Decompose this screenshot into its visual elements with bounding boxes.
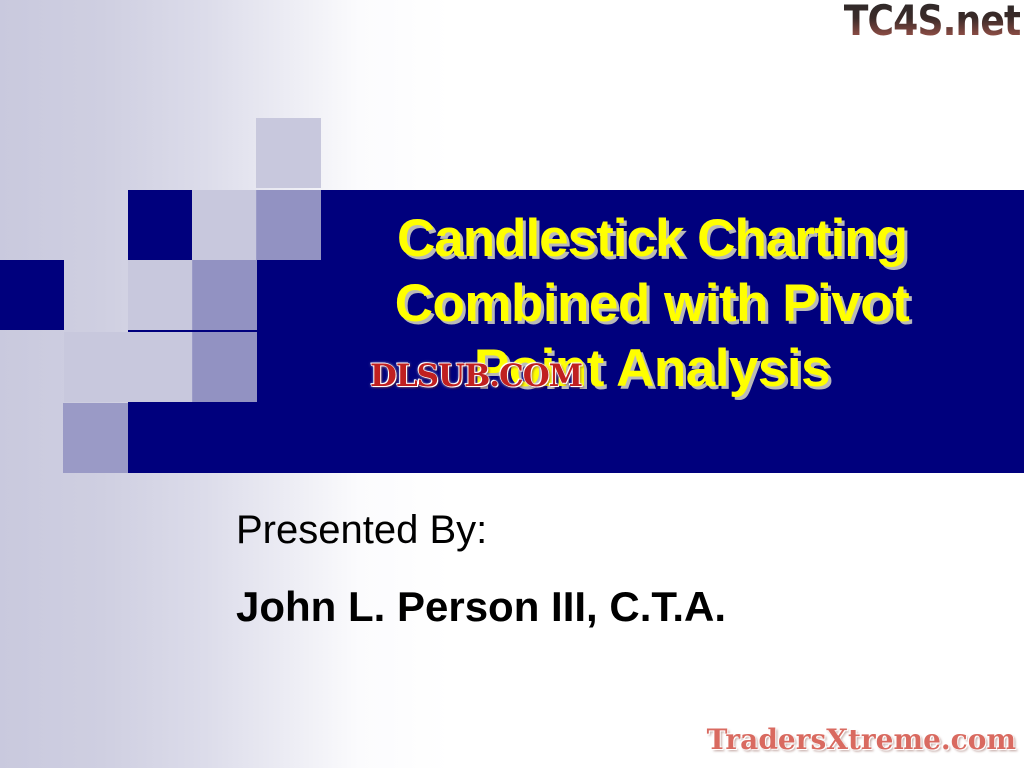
slide-subtitle: Presented By: John L. Person III, C.T.A. bbox=[236, 506, 976, 632]
decorative-square bbox=[128, 260, 193, 330]
title-line-1: Candlestick Charting bbox=[322, 206, 982, 271]
presented-by-label: Presented By: bbox=[236, 506, 976, 554]
decorative-square bbox=[63, 403, 128, 473]
title-line-2: Combined with Pivot bbox=[322, 271, 982, 336]
decorative-square bbox=[192, 190, 257, 260]
decorative-square-navy bbox=[0, 260, 64, 330]
author-name: John L. Person III, C.T.A. bbox=[236, 582, 976, 632]
decorative-square bbox=[192, 332, 257, 402]
decorative-square bbox=[128, 332, 193, 402]
watermark-bottom-right: TradersXtreme.com bbox=[707, 723, 1016, 756]
watermark-center: DLSUB.COM bbox=[370, 358, 582, 394]
presentation-slide: Candlestick Charting Combined with Pivot… bbox=[0, 0, 1024, 768]
decorative-square bbox=[256, 190, 321, 260]
decorative-square bbox=[64, 332, 129, 402]
decorative-square bbox=[256, 118, 321, 188]
watermark-top-right: TC4S.net bbox=[843, 0, 1020, 45]
decorative-square bbox=[192, 260, 257, 330]
